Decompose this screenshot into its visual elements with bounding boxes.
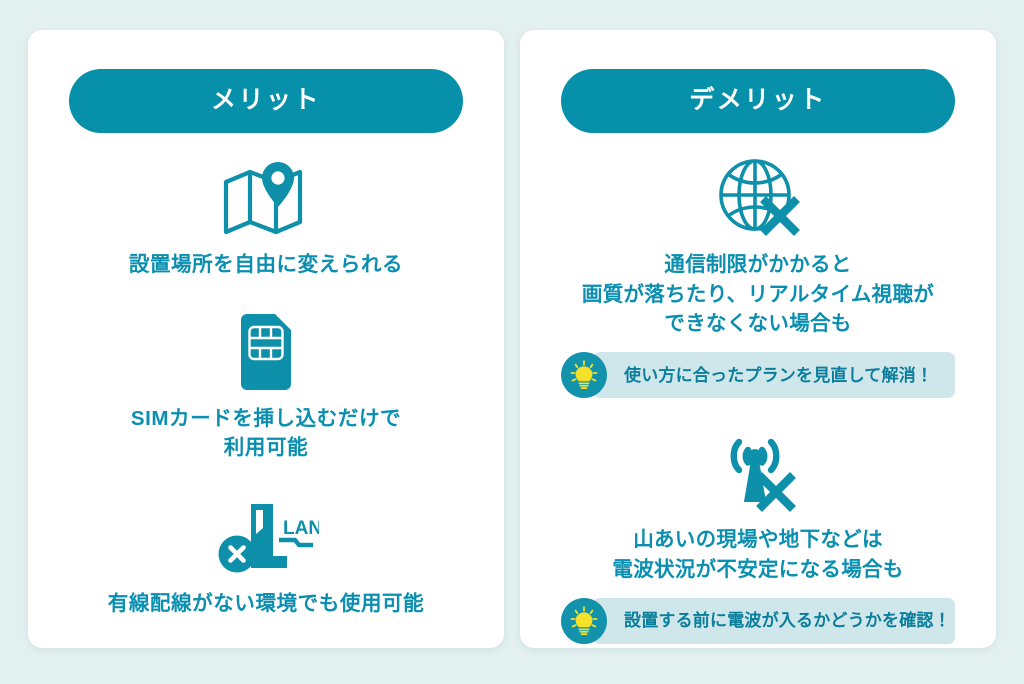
lan-cable-disabled-icon: LAN (213, 499, 319, 577)
merit-item-lan: LAN 有線配線がない環境でも使用可能 (28, 499, 504, 619)
lightbulb-icon (561, 352, 607, 398)
demerit-panel: デメリット (520, 30, 996, 648)
merit-item-sim: SIMカードを挿し込むだけで 利用可能 (28, 314, 504, 463)
tip-text: 設置する前に電波が入るかどうかを確認！ (624, 612, 951, 629)
merit-item-label: 有線配線がない環境でも使用可能 (108, 589, 425, 619)
comparison-board: メリット 設置場所を自由に変えられる (0, 0, 1024, 684)
map-pin-icon (220, 160, 312, 238)
sim-card-icon (235, 314, 297, 392)
demerit-item-list: 通信制限がかかると 画質が落ちたり、リアルタイム視聴が できなくない場合も (520, 133, 996, 648)
merit-item-location: 設置場所を自由に変えられる (28, 160, 504, 280)
lightbulb-icon (561, 598, 607, 644)
demerit-item-data-limit: 通信制限がかかると 画質が落ちたり、リアルタイム視聴が できなくない場合も (520, 155, 996, 398)
demerit-panel-header: デメリット (561, 69, 955, 133)
svg-text:LAN: LAN (283, 518, 319, 539)
merit-item-list: 設置場所を自由に変えられる (28, 133, 504, 648)
merit-panel: メリット 設置場所を自由に変えられる (28, 30, 504, 648)
demerit-item-signal: 山あいの現場や地下などは 電波状況が不安定になる場合も (520, 430, 996, 643)
merit-item-label: 設置場所を自由に変えられる (129, 250, 403, 280)
tip-row: 使い方に合ったプランを見直して解消！ (561, 352, 955, 398)
merit-item-label: SIMカードを挿し込むだけで 利用可能 (131, 404, 401, 463)
tip-row: 設置する前に電波が入るかどうかを確認！ (561, 598, 955, 644)
antenna-signal-disabled-icon (710, 430, 806, 516)
demerit-item-label: 通信制限がかかると 画質が落ちたり、リアルタイム視聴が できなくない場合も (582, 250, 934, 339)
tip-text: 使い方に合ったプランを見直して解消！ (624, 367, 933, 384)
demerit-item-label: 山あいの現場や地下などは 電波状況が不安定になる場合も (612, 525, 903, 584)
globe-disabled-icon (715, 155, 801, 241)
merit-panel-header: メリット (69, 69, 463, 133)
